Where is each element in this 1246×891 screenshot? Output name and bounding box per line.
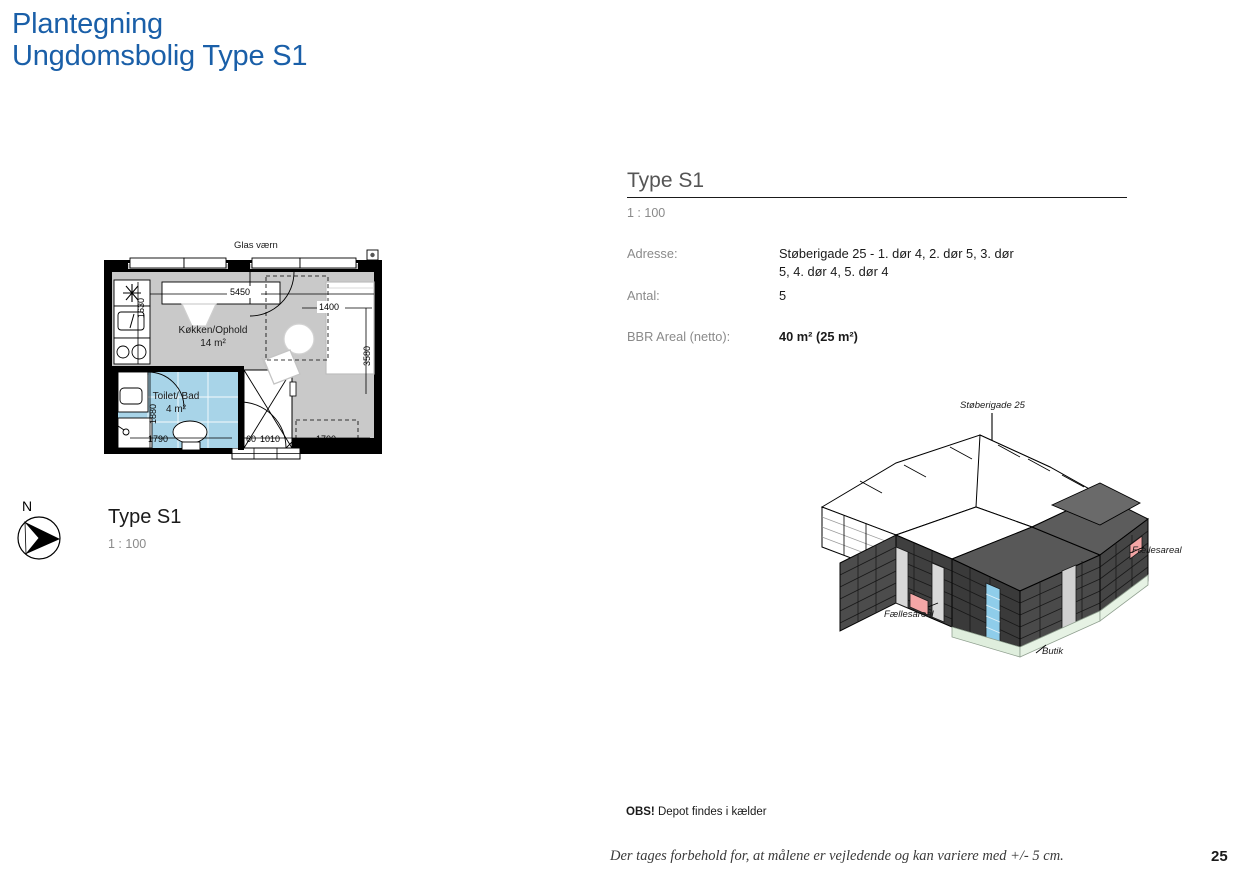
compass-rose: N — [12, 495, 70, 565]
floor-plan-svg: 5450 1400 3580 1630 1880 1790 60 1010 17… — [104, 242, 382, 474]
room-area-bath: 4 m² — [166, 404, 187, 415]
document-page: PlantegningUngdomsbolig Type S1 Glas vær… — [0, 0, 1246, 891]
info-row-address: Adresse: Støberigade 25 - 1. dør 4, 2. d… — [627, 245, 1127, 281]
dim-door-width: 1010 — [260, 434, 280, 444]
antal-value: 5 — [779, 287, 786, 305]
obs-strong: OBS! — [626, 806, 655, 818]
obs-note: OBS! Depot findes i kælder — [626, 804, 767, 820]
massing-butik-label: Butik — [1042, 646, 1063, 657]
disclaimer-text: Der tages forbehold for, at målene er ve… — [610, 848, 1064, 865]
massing-street-label: Støberigade 25 — [960, 400, 1025, 411]
bbr-label: BBR Areal (netto): — [627, 328, 779, 346]
round-table — [284, 324, 314, 354]
dim-bath-depth: 1880 — [148, 404, 158, 424]
plan-caption-title: Type S1 — [108, 505, 181, 529]
bbr-value: 40 m² (25 m²) — [779, 328, 858, 346]
dim-bed-depth: 3580 — [362, 346, 372, 366]
page-title-line2: Ungdomsbolig Type S1 — [12, 40, 307, 72]
antal-label: Antal: — [627, 287, 779, 305]
dim-top-width: 5450 — [230, 287, 250, 297]
plan-caption-scale: 1 : 100 — [108, 535, 181, 553]
info-rows: Adresse: Støberigade 25 - 1. dør 4, 2. d… — [627, 245, 1127, 346]
plan-caption: Type S1 1 : 100 — [108, 505, 181, 553]
compass-north-label: N — [22, 498, 32, 514]
massing-svg — [800, 395, 1200, 680]
obs-text: Depot findes i kælder — [655, 806, 767, 818]
page-title: PlantegningUngdomsbolig Type S1 — [12, 8, 307, 72]
corner-marker-icon — [367, 250, 378, 260]
address-value: Støberigade 25 - 1. dør 4, 2. dør 5, 3. … — [779, 245, 1014, 281]
room-area-kitchen: 14 m² — [200, 338, 226, 349]
page-number: 25 — [1211, 848, 1228, 865]
dim-entry-width: 1700 — [316, 434, 336, 444]
dim-door-small: 60 — [246, 434, 256, 444]
room-label-kitchen: Køkken/Ophold — [179, 325, 248, 336]
massing-faellesareal-right-label: Fællesareal — [1132, 545, 1182, 556]
info-row-antal: Antal: 5 — [627, 287, 1127, 305]
info-panel-title: Type S1 — [627, 168, 1127, 194]
kitchen-island — [162, 282, 280, 304]
dim-bath-width: 1790 — [148, 434, 168, 444]
info-panel: Type S1 1 : 100 Adresse: Støberigade 25 … — [627, 168, 1127, 352]
building-massing-diagram: Støberigade 25 Fællesareal Fællesareal B… — [800, 395, 1200, 680]
apartment-highlight-stack — [986, 583, 1000, 645]
floor-plan-drawing: Glas værn — [104, 242, 382, 474]
massing-faellesareal-left-label: Fællesareal — [884, 609, 934, 620]
room-label-bath: Toilet/ Bad — [153, 391, 200, 402]
dim-kitchen-depth: 1630 — [136, 298, 146, 318]
dim-niche-width: 1400 — [319, 302, 339, 312]
address-label: Adresse: — [627, 245, 779, 263]
info-row-bbr: BBR Areal (netto): 40 m² (25 m²) — [627, 328, 1127, 346]
info-panel-divider — [627, 197, 1127, 198]
info-panel-scale: 1 : 100 — [627, 205, 1127, 221]
page-title-line1: Plantegning — [12, 8, 163, 40]
